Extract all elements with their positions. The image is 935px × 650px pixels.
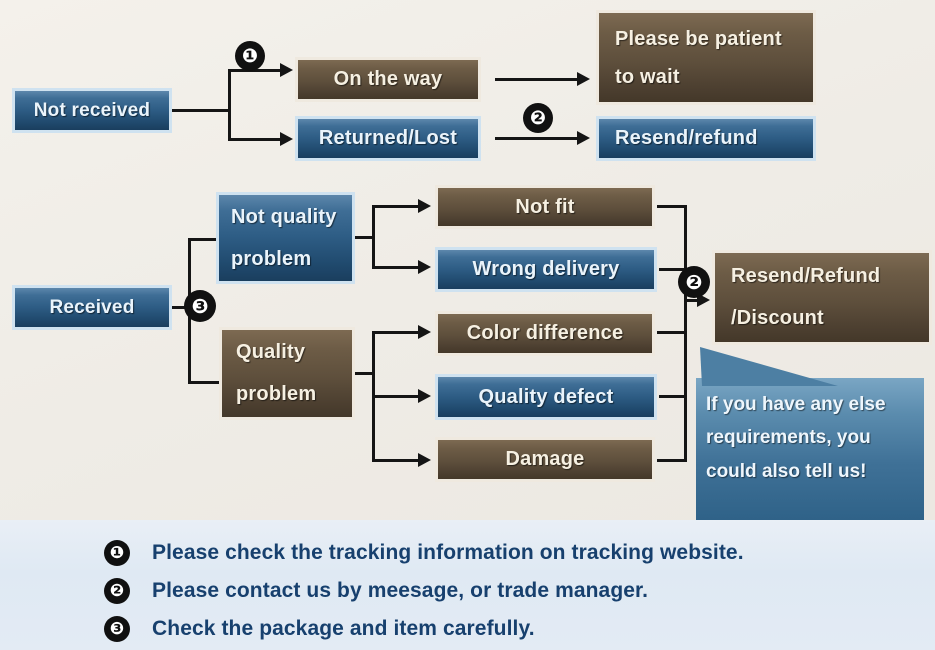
connector-to-color-difference xyxy=(372,331,420,334)
bubble-line-3: could also tell us! xyxy=(706,455,924,488)
connector-to-returned-lost xyxy=(228,138,282,141)
flowchart-canvas: Not received ❶ On the way Returned/Lost … xyxy=(0,0,935,650)
node-returned-lost[interactable]: Returned/Lost xyxy=(295,116,481,161)
speech-bubble: If you have any else requirements, you c… xyxy=(696,378,924,520)
arrowhead-not-fit xyxy=(418,199,431,213)
node-resend-refund[interactable]: Resend/refund xyxy=(596,116,816,161)
node-damage[interactable]: Damage xyxy=(435,437,655,482)
node-on-the-way[interactable]: On the way xyxy=(295,57,481,102)
arrowhead-on-the-way xyxy=(280,63,293,77)
legend-text-two: Please contact us by meesage, or trade m… xyxy=(152,579,648,603)
arrowhead-damage xyxy=(418,453,431,467)
node-please-be-patient[interactable]: Please be patient to wait xyxy=(596,10,816,105)
connector-to-damage xyxy=(372,459,420,462)
legend-row-2: ❷ Please contact us by meesage, or trade… xyxy=(104,578,648,604)
connector-top-bus xyxy=(228,69,231,141)
node-not-received[interactable]: Not received xyxy=(12,88,172,133)
connector-merge-bus xyxy=(684,205,687,462)
connector-to-wrong-delivery xyxy=(372,266,420,269)
legend-row-1: ❶ Please check the tracking information … xyxy=(104,540,744,566)
node-not-quality-problem[interactable]: Not quality problem xyxy=(216,192,355,284)
node-not-fit[interactable]: Not fit xyxy=(435,185,655,229)
connector-to-not-fit xyxy=(372,205,420,208)
marker-one-top: ❶ xyxy=(236,42,264,70)
legend-text-one: Please check the tracking information on… xyxy=(152,541,744,565)
marker-three: ❸ xyxy=(185,291,215,321)
legend-marker-one: ❶ xyxy=(104,540,130,566)
arrowhead-quality-defect xyxy=(418,389,431,403)
node-quality-problem[interactable]: Quality problem xyxy=(219,327,355,420)
connector-not-fit-merge xyxy=(657,205,687,208)
connector-not-received-stem xyxy=(172,109,230,112)
node-wrong-delivery[interactable]: Wrong delivery xyxy=(435,247,657,292)
node-quality-defect[interactable]: Quality defect xyxy=(435,374,657,420)
connector-to-on-the-way xyxy=(228,69,282,72)
legend-panel: ❶ Please check the tracking information … xyxy=(0,520,935,650)
bubble-line-2: requirements, you xyxy=(706,421,924,454)
node-resend-refund-discount[interactable]: Resend/Refund /Discount xyxy=(712,250,932,345)
arrowhead-resend-refund xyxy=(577,131,590,145)
marker-two-middle: ❷ xyxy=(679,267,709,297)
arrowhead-wrong-delivery xyxy=(418,260,431,274)
bubble-line-1: If you have any else xyxy=(706,388,924,421)
connector-color-difference-merge xyxy=(657,331,687,334)
arrowhead-returned-lost xyxy=(280,132,293,146)
arrowhead-color-difference xyxy=(418,325,431,339)
legend-marker-two: ❷ xyxy=(104,578,130,604)
legend-row-3: ❸ Check the package and item carefully. xyxy=(104,616,535,642)
connector-returned-to-resend xyxy=(495,137,579,140)
connector-quality-defect-merge xyxy=(659,395,687,398)
legend-marker-three: ❸ xyxy=(104,616,130,642)
arrowhead-please-be-patient xyxy=(577,72,590,86)
node-color-difference[interactable]: Color difference xyxy=(435,311,655,356)
connector-to-quality-defect xyxy=(372,395,420,398)
connector-damage-merge xyxy=(657,459,687,462)
connector-on-the-way-to-patient xyxy=(495,78,579,81)
legend-text-three: Check the package and item carefully. xyxy=(152,617,535,641)
marker-two-top: ❷ xyxy=(524,104,552,132)
connector-not-quality-bus xyxy=(372,205,375,269)
speech-bubble-tail xyxy=(696,344,846,390)
node-received[interactable]: Received xyxy=(12,285,172,330)
